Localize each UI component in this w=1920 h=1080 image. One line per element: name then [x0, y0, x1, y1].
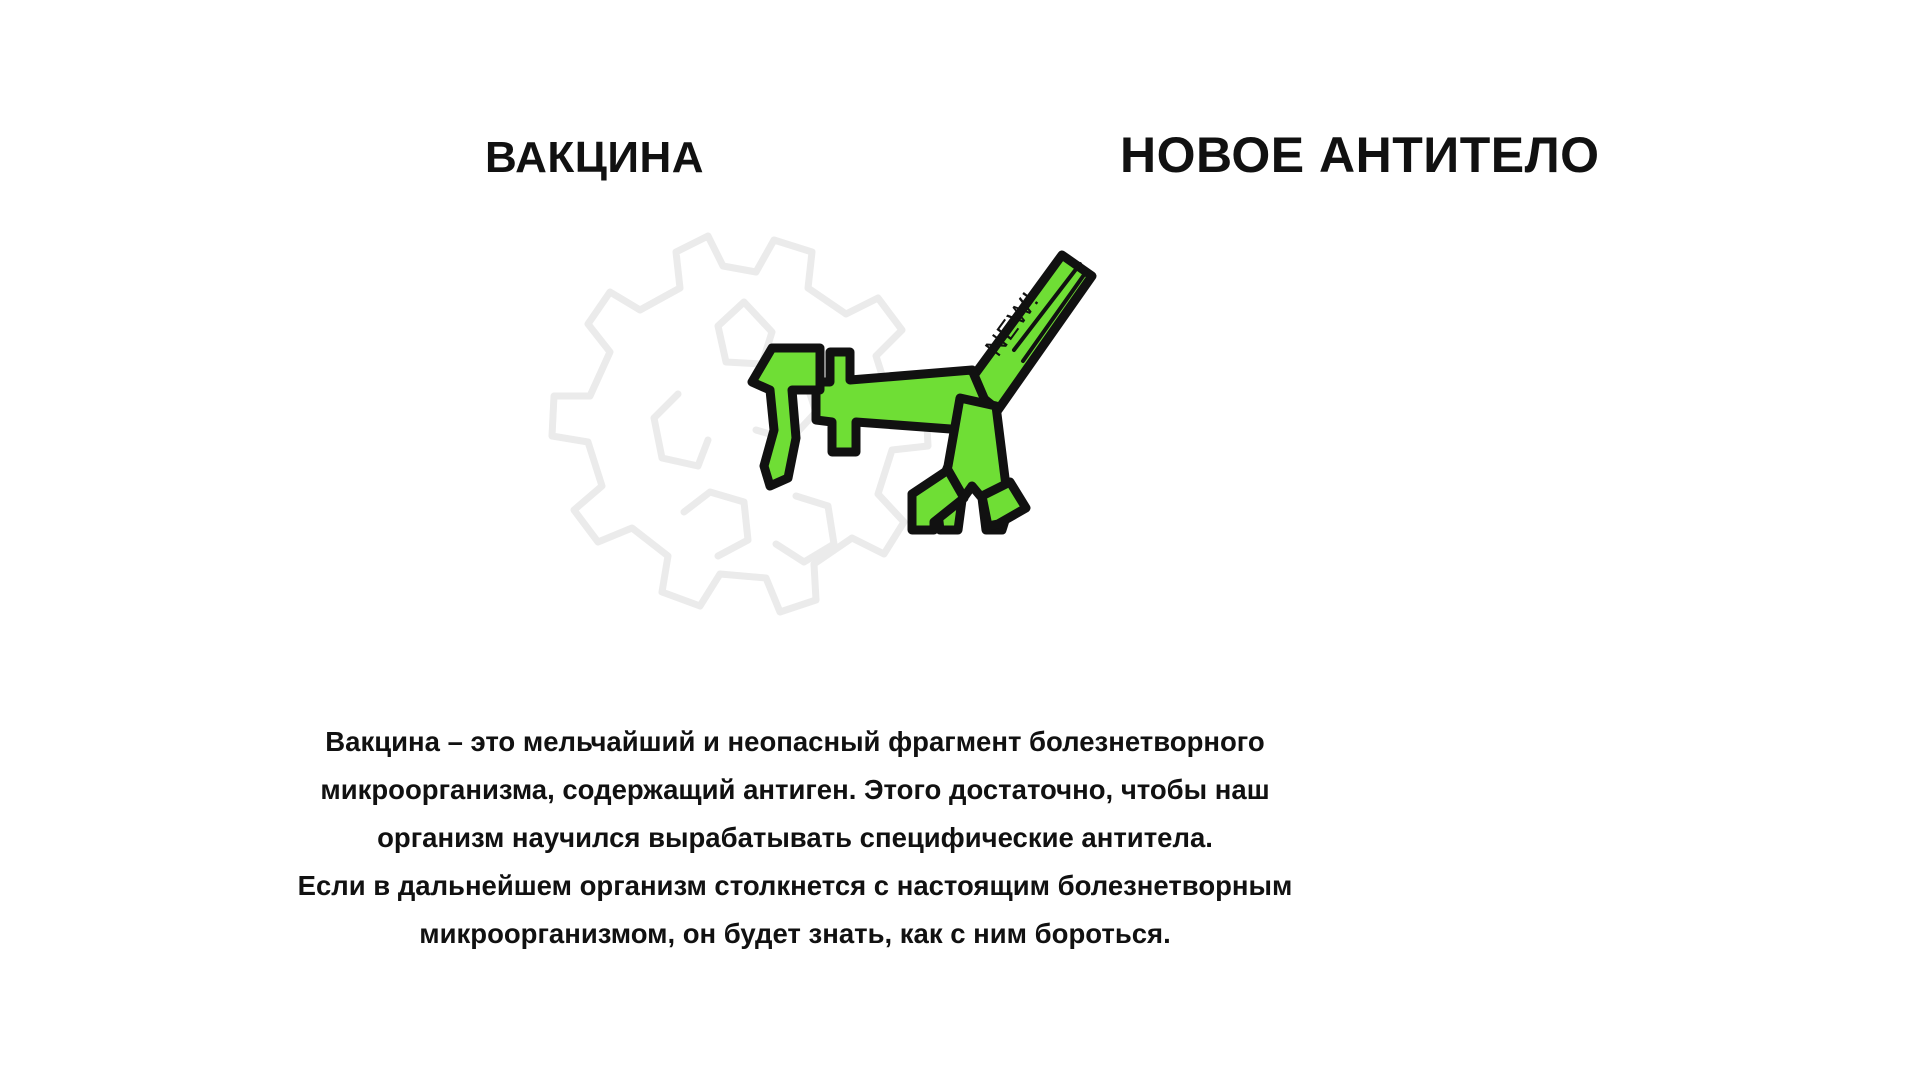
body-line-3: организм научился вырабатывать специфиче… [230, 814, 1360, 862]
body-line-4: Если в дальнейшем организм столкнется с … [230, 862, 1360, 910]
slide-canvas: ВАКЦИНА НОВОЕ АНТИТЕЛО [0, 0, 1920, 1080]
heading-new-antibody: НОВОЕ АНТИТЕЛО [1120, 130, 1600, 180]
antibody-y-shape [752, 255, 1092, 530]
body-line-1: Вакцина – это мельчайший и неопасный фра… [230, 718, 1360, 766]
illustration-group: NEW! [520, 230, 1520, 660]
heading-vaccine: ВАКЦИНА [485, 136, 704, 180]
body-paragraph: Вакцина – это мельчайший и неопасный фра… [230, 718, 1360, 958]
body-line-5: микроорганизмом, он будет знать, как с н… [230, 910, 1360, 958]
body-line-2: микроорганизма, содержащий антиген. Этог… [230, 766, 1360, 814]
